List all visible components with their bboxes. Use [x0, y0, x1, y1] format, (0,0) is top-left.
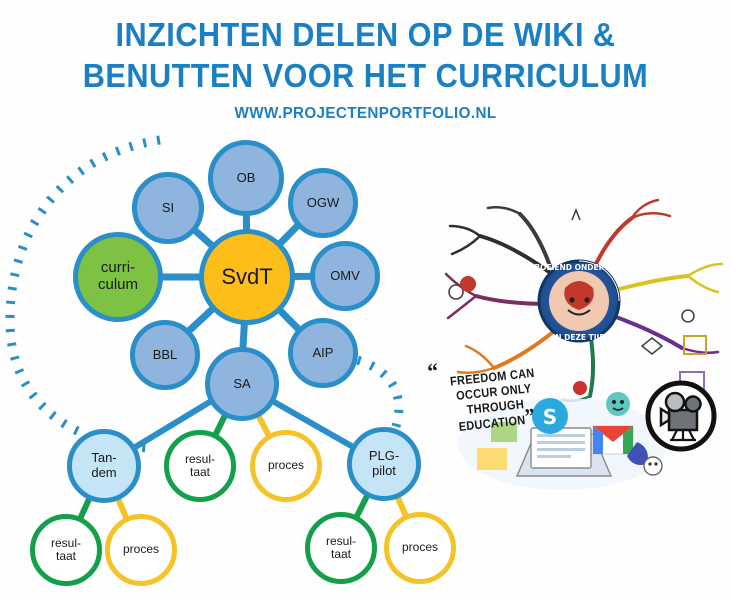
node-plg-pilot[interactable]: PLG- pilot	[347, 427, 421, 501]
node-curriculum[interactable]: curri- culum	[73, 232, 163, 322]
slide-canvas: INZICHTEN DELEN OP DE WIKI & BENUTTEN VO…	[0, 0, 731, 600]
node-proces-sa[interactable]: proces	[250, 430, 322, 502]
node-resultaat-label: resul- taat	[51, 537, 81, 564]
node-resultaat-label: resul- taat	[326, 535, 356, 562]
node-sa[interactable]: SA	[205, 347, 279, 421]
node-aip-label: AIP	[313, 346, 334, 361]
node-ob[interactable]: OB	[208, 140, 284, 216]
node-tandem[interactable]: Tan- dem	[67, 429, 141, 503]
node-proces-label: proces	[402, 541, 438, 554]
node-svdt-label: SvdT	[221, 265, 272, 290]
mindmap-center-title-1: BOEIEND ONDERWIJS	[534, 263, 623, 272]
node-proces-plg[interactable]: proces	[384, 512, 456, 584]
node-ogw-label: OGW	[307, 196, 340, 211]
node-proces-label: proces	[268, 459, 304, 472]
node-si[interactable]: SI	[132, 172, 204, 244]
node-sa-label: SA	[233, 377, 250, 392]
node-bbl[interactable]: BBL	[130, 320, 200, 390]
node-curriculum-label: curri- culum	[98, 260, 138, 294]
node-proces-label: proces	[123, 543, 159, 556]
node-tandem-label: Tan- dem	[91, 451, 116, 480]
node-ob-label: OB	[237, 171, 256, 186]
node-resultaat-label: resul- taat	[185, 453, 215, 480]
node-plg-pilot-label: PLG- pilot	[369, 449, 399, 478]
education-quote-card: “ FREEDOM CAN OCCUR ONLY THROUGH EDUCATI…	[425, 353, 567, 472]
node-svdt[interactable]: SvdT	[199, 229, 295, 325]
node-resultaat-sa[interactable]: resul- taat	[164, 430, 236, 502]
node-resultaat-plg[interactable]: resul- taat	[305, 512, 377, 584]
mindmap-center-title-2: IN DEZE TIJD	[552, 333, 605, 342]
node-si-label: SI	[162, 201, 174, 216]
node-resultaat-tandem[interactable]: resul- taat	[30, 514, 102, 586]
node-omv-label: OMV	[330, 269, 360, 284]
node-aip[interactable]: AIP	[288, 318, 358, 388]
node-ogw[interactable]: OGW	[288, 168, 358, 238]
node-proces-tandem[interactable]: proces	[105, 514, 177, 586]
node-omv[interactable]: OMV	[310, 241, 380, 311]
node-bbl-label: BBL	[153, 348, 178, 363]
movie-camera-icon	[645, 380, 717, 452]
